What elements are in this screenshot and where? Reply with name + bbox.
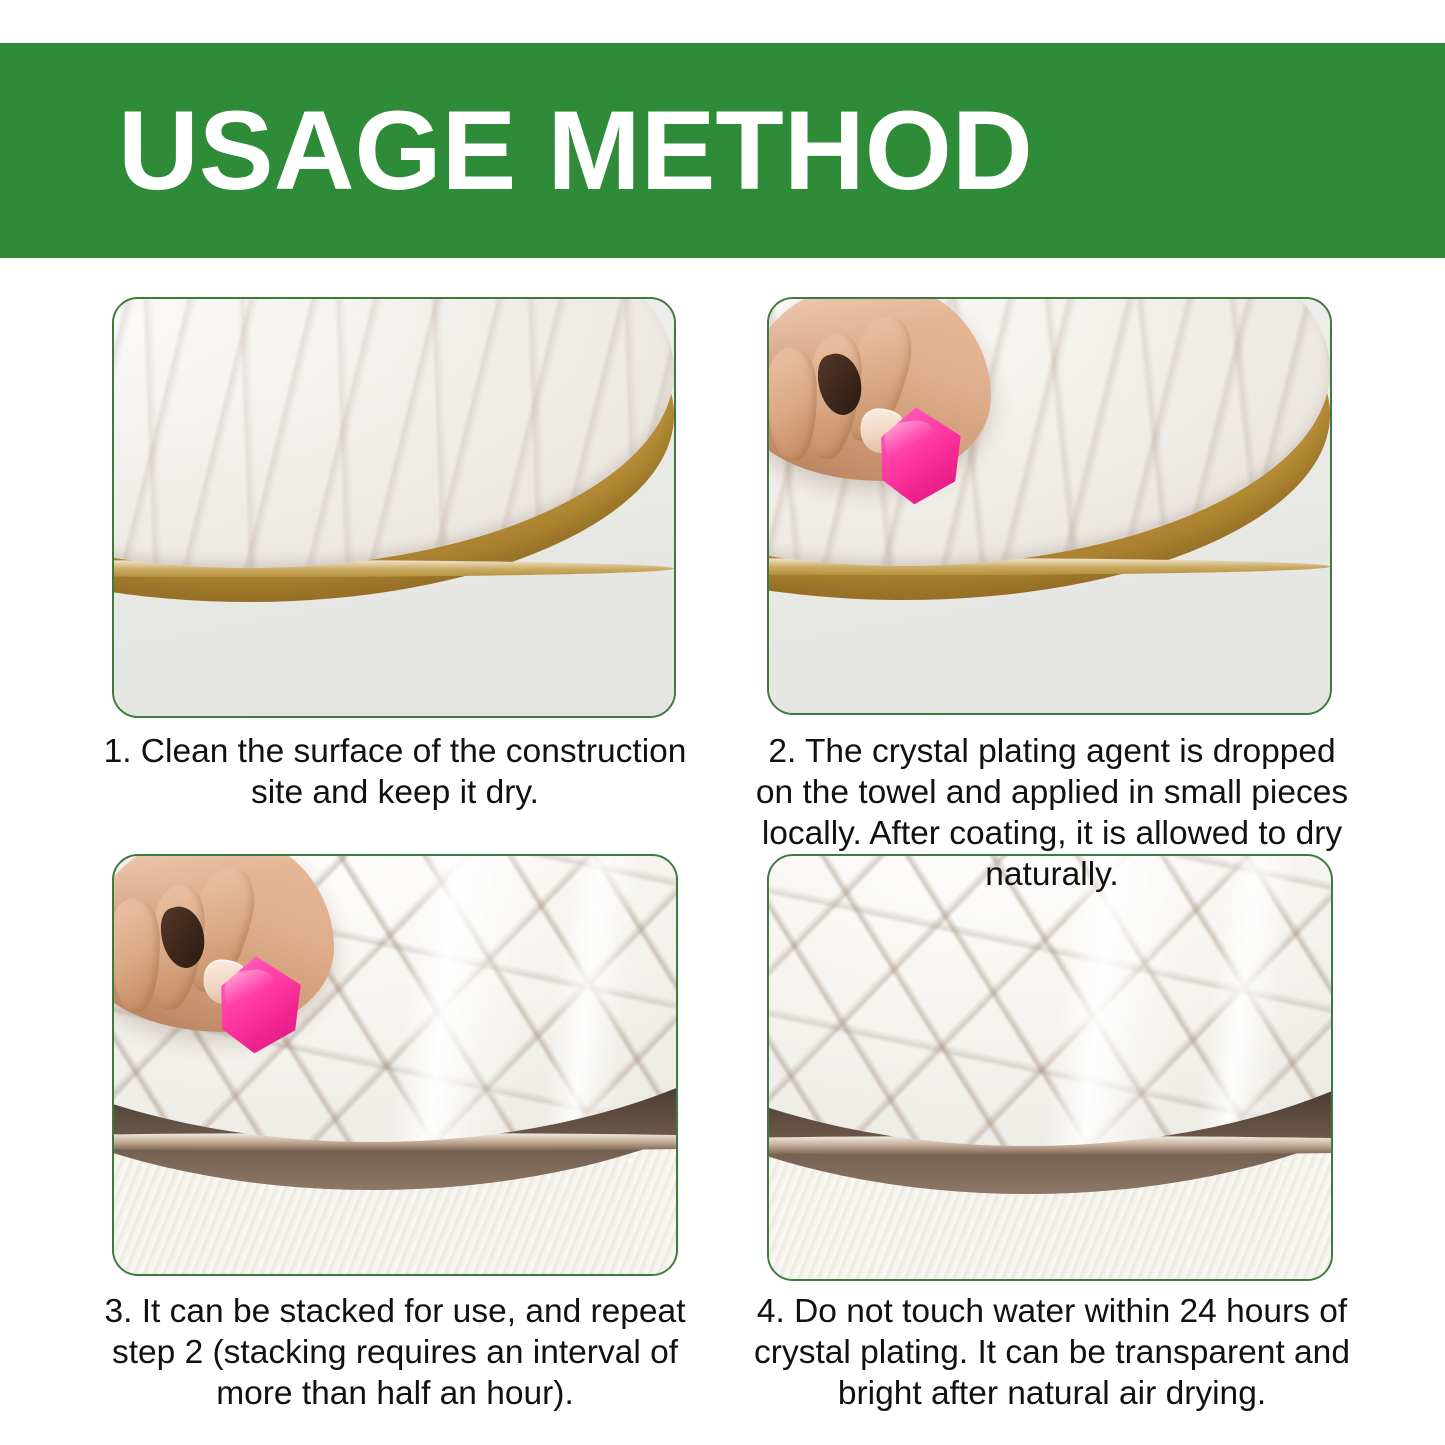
marble-table-3: [114, 856, 676, 1249]
marble-surface-1: [114, 299, 674, 568]
header-band: USAGE METHOD: [0, 43, 1445, 258]
step-photo-2: [769, 299, 1330, 713]
step-caption-4: 4. Do not touch water within 24 hours of…: [752, 1291, 1352, 1414]
step-photo-4: [769, 856, 1331, 1279]
marble-table-2: [769, 299, 1330, 663]
step-image-panel-1: [112, 297, 676, 718]
page-title: USAGE METHOD: [118, 95, 1033, 207]
step-image-panel-2: [767, 297, 1332, 715]
step-caption-3: 3. It can be stacked for use, and repeat…: [100, 1291, 690, 1414]
marble-table-1: [114, 299, 674, 666]
step-photo-3: [114, 856, 676, 1274]
marble-table-4: [769, 856, 1331, 1254]
step-image-panel-3: [112, 854, 678, 1276]
step-image-panel-4: [767, 854, 1333, 1281]
marble-surface-4: [769, 856, 1331, 1146]
marble-surface-3: [114, 856, 676, 1142]
step-caption-2: 2. The crystal plating agent is dropped …: [752, 731, 1352, 895]
marble-surface-2: [769, 299, 1330, 566]
usage-method-infographic: USAGE METHOD: [0, 0, 1445, 1445]
step-photo-1: [114, 299, 674, 716]
step-caption-1: 1. Clean the surface of the construction…: [100, 731, 690, 813]
